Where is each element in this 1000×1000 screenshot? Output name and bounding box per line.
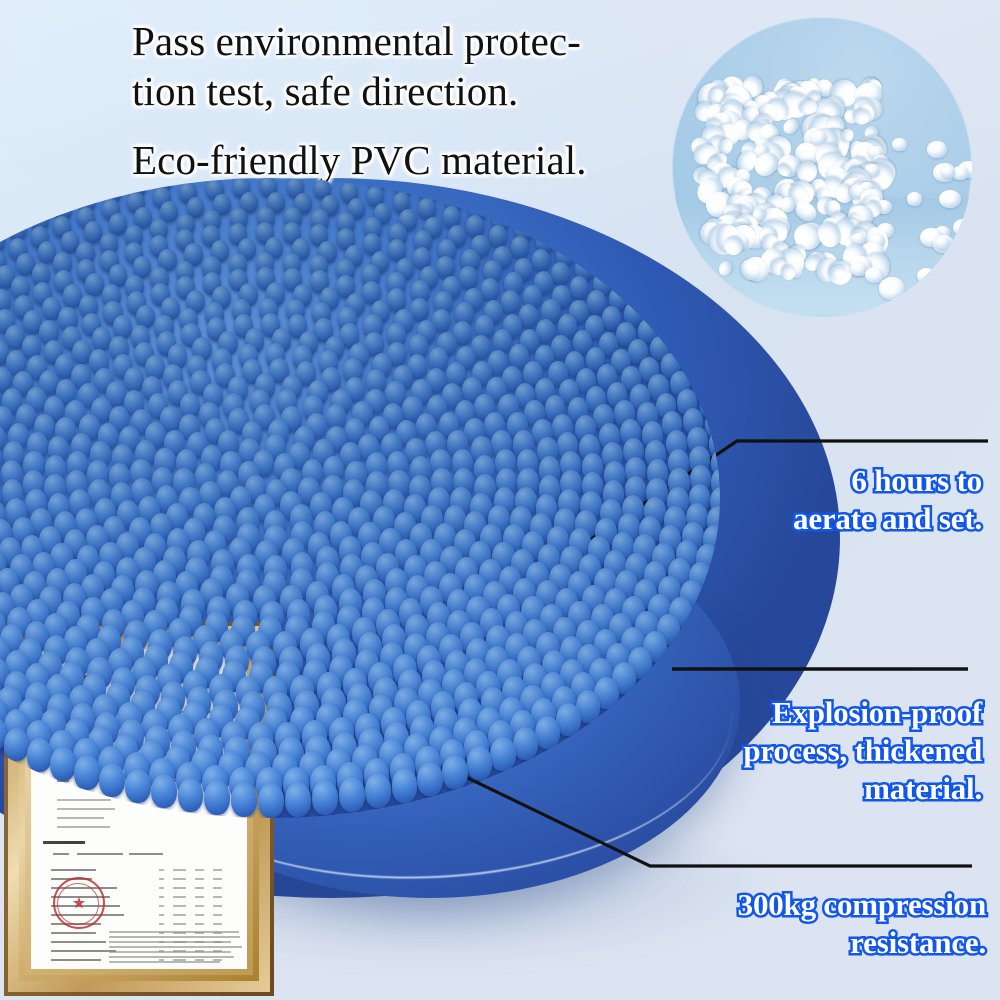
red-seal-inner-ring [57, 883, 99, 925]
headline-line-3: Eco-friendly PVC material. [132, 135, 692, 185]
callout-compression-line-1: 300kg compression [566, 886, 986, 924]
callout-explosion-proof: Explosion-proof process, thickened mater… [582, 694, 982, 807]
callout-explosion-proof-line-3: material. [582, 770, 982, 808]
callout-explosion-proof-line-2: process, thickened [582, 732, 982, 770]
callout-explosion-proof-line-1: Explosion-proof [582, 694, 982, 732]
headline-line-2: tion test, safe direction. [132, 66, 692, 116]
callout-compression-line-2: resistance. [566, 924, 986, 962]
callout-compression: 300kg compression resistance. [566, 886, 986, 962]
pvc-pellets-inset [672, 17, 972, 317]
product-infographic: Pass environmental protec- tion test, sa… [0, 0, 1000, 1000]
headline-text: Pass environmental protec- tion test, sa… [132, 16, 692, 185]
headline-line-1: Pass environmental protec- [132, 16, 692, 66]
